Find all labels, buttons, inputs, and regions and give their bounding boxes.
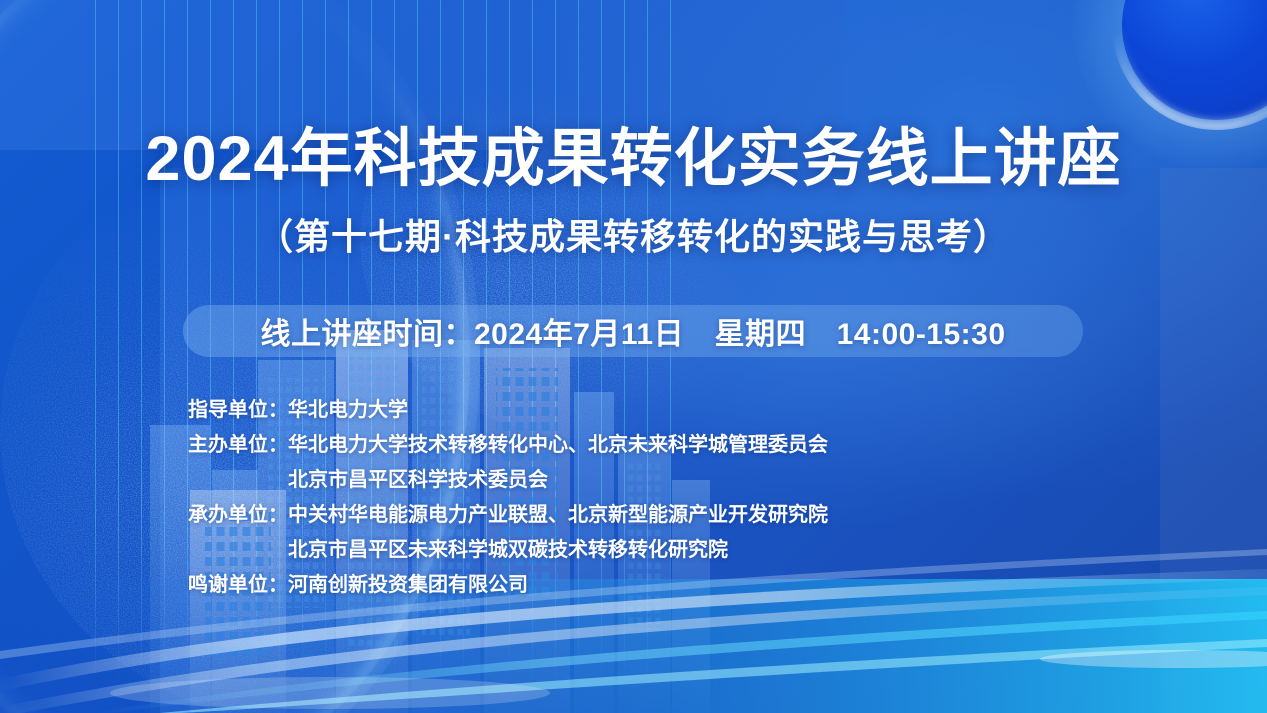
- list-item: 主办单位： 华北电力大学技术转移转化中心、北京未来科学城管理委员会: [0, 428, 990, 454]
- org-value: 华北电力大学: [288, 393, 408, 422]
- org-value: 河南创新投资集团有限公司: [288, 568, 528, 597]
- list-item: 鸣谢单位： 河南创新投资集团有限公司: [0, 568, 990, 594]
- org-label: 主办单位：: [0, 428, 288, 457]
- list-item: 承办单位： 中关村华电能源电力产业联盟、北京新型能源产业开发研究院: [0, 498, 990, 524]
- page-subtitle: （第十七期·科技成果转移转化的实践与思考）: [0, 208, 1267, 260]
- time-banner: 线上讲座时间：2024年7月11日 星期四 14:00-15:30: [183, 305, 1083, 357]
- list-item: 指导单位： 华北电力大学: [0, 393, 990, 419]
- org-label: 鸣谢单位：: [0, 568, 288, 597]
- org-label: 指导单位：: [0, 393, 288, 422]
- time-banner-text: 线上讲座时间：2024年7月11日 星期四 14:00-15:30: [260, 309, 1005, 353]
- org-label: 承办单位：: [0, 498, 288, 527]
- list-item: 北京市昌平区未来科学城双碳技术转移转化研究院: [0, 533, 990, 559]
- page-title: 2024年科技成果转化实务线上讲座: [0, 108, 1267, 199]
- org-value: 华北电力大学技术转移转化中心、北京未来科学城管理委员会: [288, 428, 828, 457]
- org-value: 北京市昌平区科学技术委员会: [288, 463, 548, 492]
- organization-list: 指导单位： 华北电力大学 主办单位： 华北电力大学技术转移转化中心、北京未来科学…: [0, 393, 990, 603]
- org-value: 中关村华电能源电力产业联盟、北京新型能源产业开发研究院: [288, 498, 828, 527]
- poster-canvas: 2024年科技成果转化实务线上讲座 （第十七期·科技成果转移转化的实践与思考） …: [0, 0, 1267, 713]
- org-value: 北京市昌平区未来科学城双碳技术转移转化研究院: [288, 533, 728, 562]
- list-item: 北京市昌平区科学技术委员会: [0, 463, 990, 489]
- poster-content: 2024年科技成果转化实务线上讲座 （第十七期·科技成果转移转化的实践与思考） …: [0, 0, 1267, 713]
